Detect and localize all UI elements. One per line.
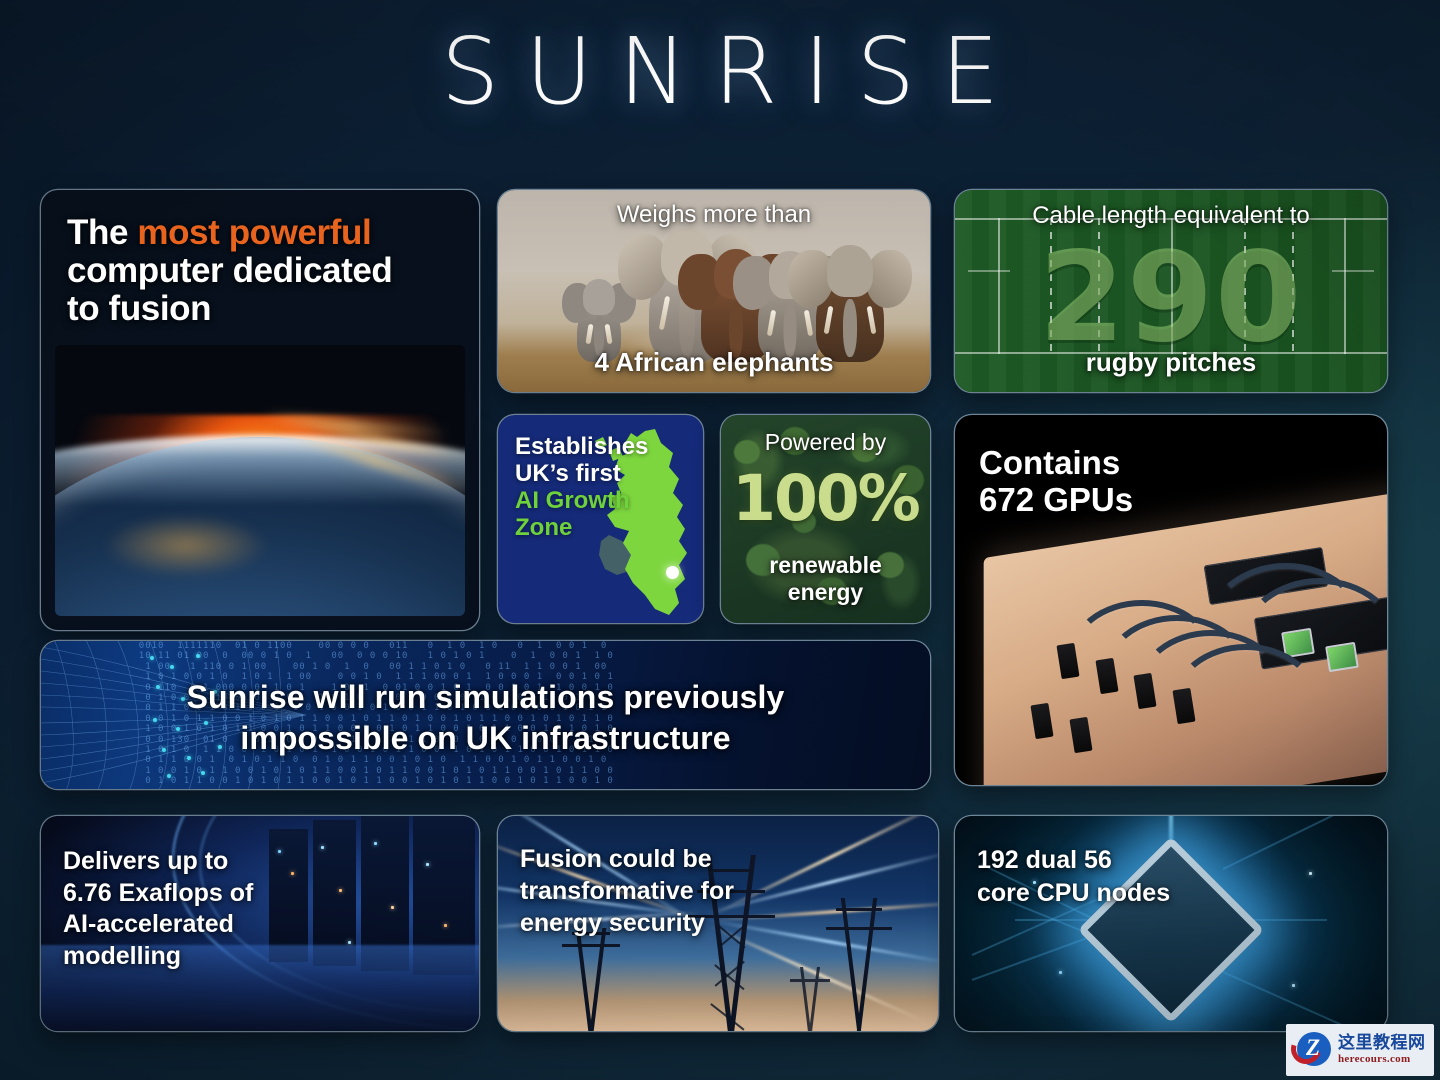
renewable-caption-top: Powered by <box>721 429 930 456</box>
hero-line3: to fusion <box>67 289 211 328</box>
exaflops-headline: Delivers up to 6.76 Exaflops of AI-accel… <box>63 846 253 972</box>
exaflops-line1: Delivers up to <box>63 847 228 875</box>
location-marker-dot <box>666 566 679 579</box>
uk-line2: UK’s first <box>515 460 621 487</box>
rugby-caption-bottom: rugby pitches <box>955 347 1387 378</box>
watermark-chinese-name: 这里教程网 <box>1338 1035 1430 1053</box>
uk-line1: Establishes <box>515 433 648 460</box>
renewable-caption-line1: renewable <box>769 552 882 578</box>
cpu-line2: core CPU nodes <box>977 879 1170 907</box>
renewable-caption-bottom: renewable energy <box>721 552 930 607</box>
uk-headline: Establishes UK’s first AI Growth Zone <box>515 433 648 541</box>
renewable-caption-line2: energy <box>788 579 863 605</box>
watermark-letter: Z <box>1290 1035 1336 1061</box>
card-cable-length-rugby: 290 Cable length equivalent to rugby pit… <box>955 190 1387 392</box>
banner-line1: Sunrise will run simulations previously <box>187 679 785 715</box>
fusion-line2: transformative for <box>520 877 734 905</box>
exaflops-line3: AI-accelerated <box>63 910 234 938</box>
watermark-domain: herecours.com <box>1338 1053 1430 1065</box>
uk-line4: Zone <box>515 514 572 541</box>
banner-line2: impossible on UK infrastructure <box>240 720 730 756</box>
cpu-line1: 192 dual 56 <box>977 846 1112 874</box>
watermark-logo: Z 这里教程网 herecours.com <box>1286 1024 1434 1076</box>
renewable-big-number: 100% <box>721 467 930 530</box>
hero-line1-prefix: The <box>67 213 137 252</box>
hero-headline: The most powerful computer dedicated to … <box>67 214 461 328</box>
elephants-caption-top: Weighs more than <box>498 201 930 229</box>
fusion-headline: Fusion could be transformative for energ… <box>520 844 734 939</box>
hero-line1-highlight: most powerful <box>137 213 371 252</box>
gpu-line1: Contains <box>979 444 1120 481</box>
card-renewable-energy: 100% Powered by renewable energy <box>721 415 930 623</box>
cpu-headline: 192 dual 56 core CPU nodes <box>977 844 1170 909</box>
hero-line2: computer dedicated <box>67 251 392 290</box>
rugby-big-number: 290 <box>955 236 1387 360</box>
exaflops-line4: modelling <box>63 942 181 970</box>
gpu-headline: Contains 672 GPUs <box>979 445 1133 519</box>
fusion-line1: Fusion could be <box>520 845 712 873</box>
fusion-line3: energy security <box>520 909 705 937</box>
watermark-mark-icon: Z <box>1290 1028 1336 1072</box>
uk-line3: AI Growth <box>515 487 630 514</box>
rugby-caption-top: Cable length equivalent to <box>955 202 1387 230</box>
banner-headline: Sunrise will run simulations previously … <box>41 677 930 759</box>
elephants-caption-bottom: 4 African elephants <box>498 347 930 378</box>
gpu-line2: 672 GPUs <box>979 481 1133 518</box>
exaflops-line2: 6.76 Exaflops of <box>63 879 253 907</box>
